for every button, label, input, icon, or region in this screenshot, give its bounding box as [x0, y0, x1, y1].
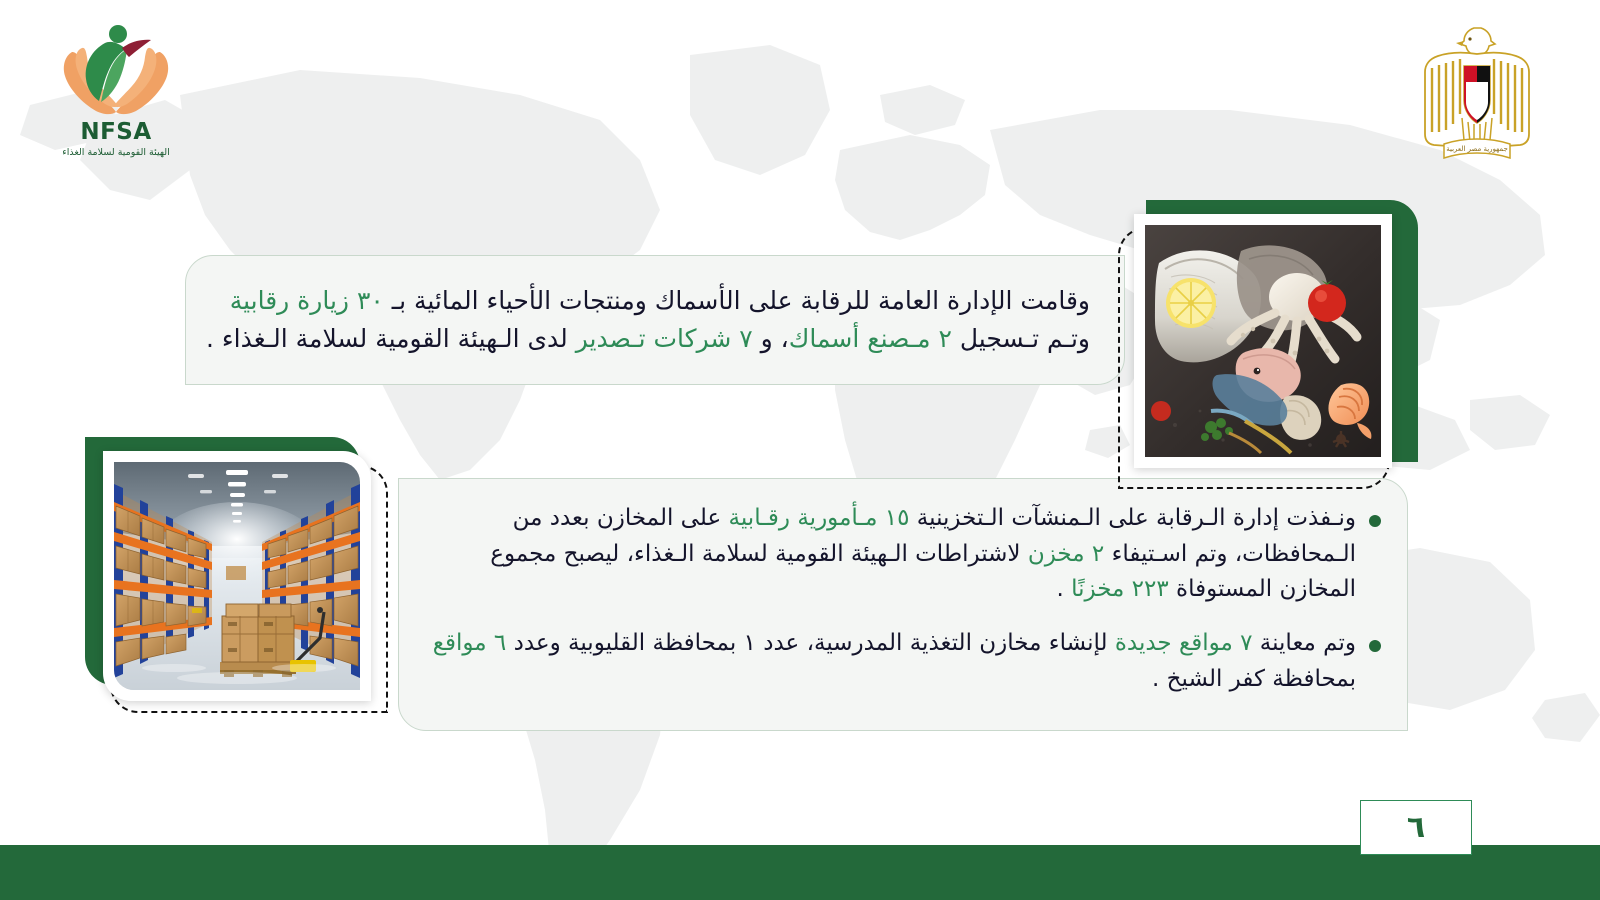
fisheries-line-1: وقامت الإدارة العامة للرقابة على الأسماك…: [216, 282, 1090, 320]
photo-white-mat: [1134, 214, 1392, 468]
nfsa-logo-mark: [56, 18, 176, 123]
nfsa-arabic-subtitle: الهيئة القومية لسلامة الغذاء: [36, 148, 196, 158]
fisheries-line-2: وتـم تـسجيل ٢ مـصنع أسماك، و ٧ شركات تـص…: [216, 320, 1090, 358]
page-number-badge: ٦: [1360, 800, 1472, 855]
bullet-dot-icon: [1369, 640, 1381, 652]
nfsa-logo: NFSA الهيئة القومية لسلامة الغذاء: [36, 18, 196, 163]
warehouse-bullet-2-text: وتم معاينة ٧ مواقع جديدة لإنشاء مخازن ال…: [425, 626, 1356, 697]
warehouse-image: [114, 462, 360, 690]
warehouse-photo-frame: [85, 437, 395, 715]
egypt-emblem: جمهورية مصر العربية: [1412, 22, 1542, 172]
warehouse-bullet-1-text: ونـفذت إدارة الـرقابة على الـمنشآت الـتخ…: [425, 501, 1356, 608]
list-item: ونـفذت إدارة الـرقابة على الـمنشآت الـتخ…: [425, 501, 1381, 608]
nfsa-wordmark: NFSA: [36, 121, 196, 144]
eagle-of-saladin-icon: جمهورية مصر العربية: [1412, 22, 1542, 172]
fisheries-inspection-card: وقامت الإدارة العامة للرقابة على الأسماك…: [185, 255, 1125, 385]
warehouse-inspection-card: ونـفذت إدارة الـرقابة على الـمنشآت الـتخ…: [398, 478, 1408, 731]
slide-canvas: NFSA الهيئة القومية لسلامة الغذاء: [0, 0, 1600, 900]
seafood-photo-frame: [1118, 200, 1418, 490]
list-item: وتم معاينة ٧ مواقع جديدة لإنشاء مخازن ال…: [425, 626, 1381, 697]
emblem-caption: جمهورية مصر العربية: [1446, 145, 1508, 153]
bullet-dot-icon: [1369, 515, 1381, 527]
page-number-value: ٦: [1407, 813, 1425, 843]
seafood-image: [1145, 225, 1381, 457]
photo-white-mat: [103, 451, 371, 701]
